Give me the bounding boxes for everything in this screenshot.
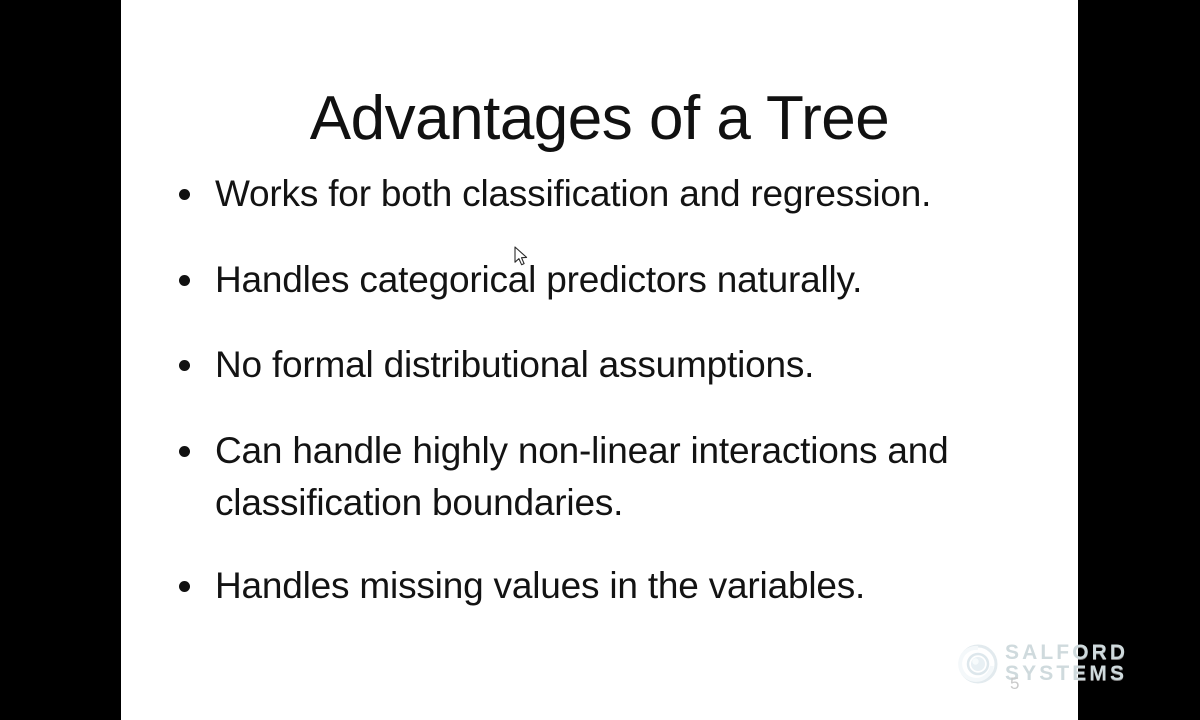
- brand-line-salford: SALFORD: [1005, 643, 1128, 664]
- list-item-label: Can handle highly non-linear interaction…: [215, 425, 1063, 530]
- circular-swirl-icon: [958, 644, 998, 684]
- slide-canvas[interactable]: Advantages of a Tree Works for both clas…: [121, 0, 1078, 720]
- brand-wordmark: SALFORD SYSTEMS: [1005, 643, 1128, 684]
- list-item: Works for both classification and regres…: [173, 168, 1063, 221]
- bullet-dot-icon: [179, 360, 190, 371]
- list-item: Handles missing values in the variables.: [173, 560, 1063, 613]
- list-item-label: No formal distributional assumptions.: [215, 339, 1063, 392]
- slide-number: 5: [1010, 674, 1019, 694]
- list-item: Can handle highly non-linear interaction…: [173, 425, 1063, 530]
- list-item: Handles categorical predictors naturally…: [173, 254, 1063, 307]
- pen-tool-icon[interactable]: [164, 691, 181, 706]
- bullet-dot-icon: [179, 275, 190, 286]
- list-item-label: Handles categorical predictors naturally…: [215, 254, 1063, 307]
- brand-line-systems: SYSTEMS: [1005, 664, 1128, 685]
- page-title: Advantages of a Tree: [121, 86, 1078, 153]
- list-item-label: Handles missing values in the variables.: [215, 560, 1063, 613]
- bullet-dot-icon: [179, 581, 190, 592]
- bullet-list: Works for both classification and regres…: [173, 168, 1063, 612]
- list-item-label: Works for both classification and regres…: [215, 168, 1063, 221]
- list-item: No formal distributional assumptions.: [173, 339, 1063, 392]
- bullet-dot-icon: [179, 189, 190, 200]
- slideshow-control-bar[interactable]: [128, 691, 253, 706]
- presentation-viewport: Advantages of a Tree Works for both clas…: [0, 0, 1200, 720]
- bullet-dot-icon: [179, 446, 190, 457]
- next-slide-icon[interactable]: [236, 691, 253, 706]
- previous-slide-icon[interactable]: [128, 691, 145, 706]
- slide-menu-icon[interactable]: [200, 691, 217, 706]
- salford-systems-logo: SALFORD SYSTEMS: [958, 636, 1158, 692]
